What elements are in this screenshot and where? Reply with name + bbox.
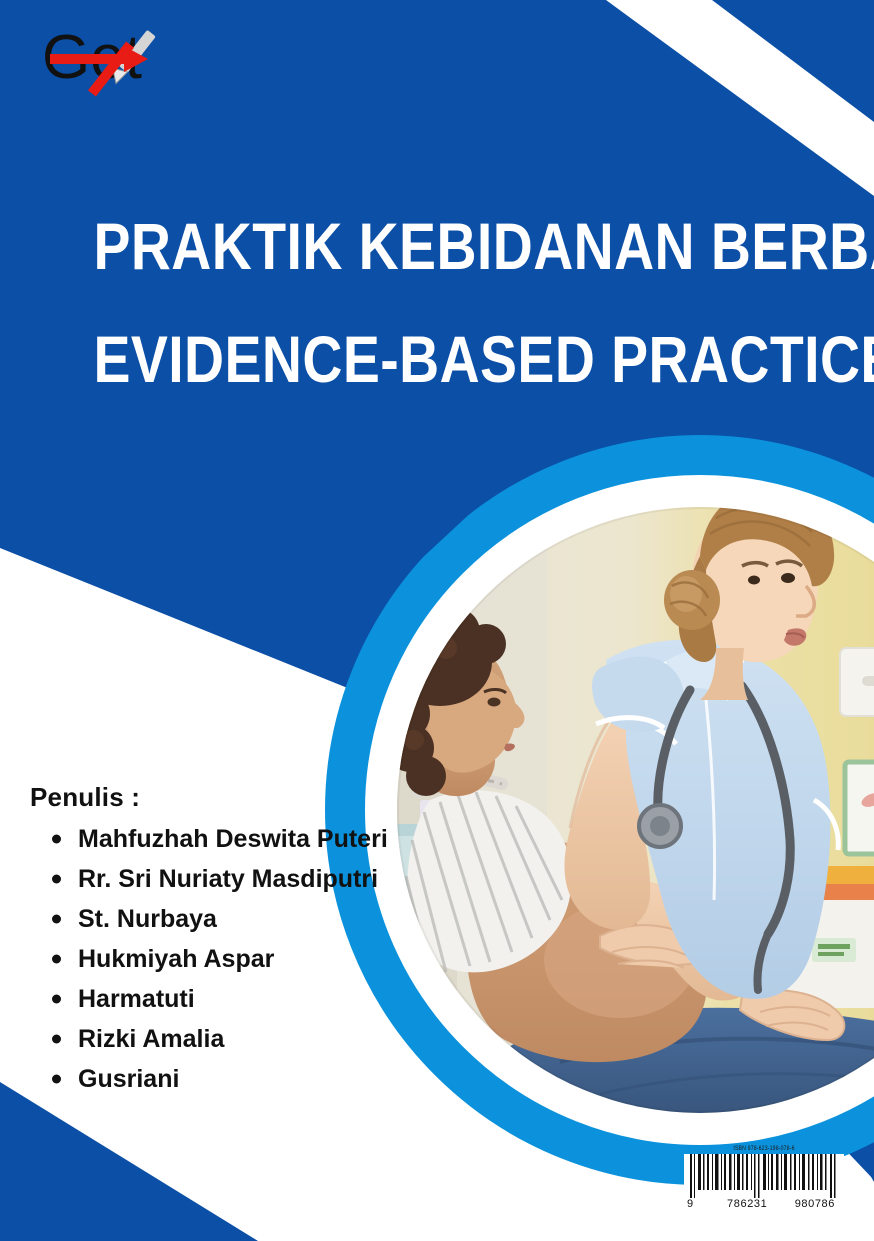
bullet-icon: [52, 915, 61, 924]
authors-block: Penulis : Mahfuzhah Deswita Puteri Rr. S…: [30, 782, 388, 1099]
authors-list: Mahfuzhah Deswita Puteri Rr. Sri Nuriaty…: [30, 819, 388, 1099]
bullet-icon: [52, 1075, 61, 1084]
barcode-digit-group-2: 980786: [795, 1198, 835, 1210]
isbn-text: ISBN 978-623-198-078-6: [684, 1146, 844, 1153]
author-name: Rizki Amalia: [78, 1025, 224, 1053]
barcode-digit-group-1: 786231: [727, 1198, 767, 1210]
title-line-2: EVIDENCE-BASED PRACTICE: [93, 325, 780, 394]
publisher-logo-mark: Get: [40, 22, 205, 102]
author-name: Rr. Sri Nuriaty Masdiputri: [78, 865, 378, 893]
isbn-barcode-block: ISBN 978-623-198-078-6: [684, 1146, 844, 1210]
bullet-icon: [52, 1035, 61, 1044]
authors-label: Penulis :: [30, 782, 388, 813]
barcode-digits: 9 786231 980786: [687, 1198, 841, 1210]
bullet-icon: [52, 875, 61, 884]
barcode-bars: [684, 1154, 844, 1198]
bullet-icon: [52, 835, 61, 844]
book-cover: Get PRAKTIK KEBIDANAN BERBASIS EVIDENCE-…: [0, 0, 874, 1241]
list-item: Rr. Sri Nuriaty Masdiputri: [48, 859, 388, 899]
bullet-icon: [52, 995, 61, 1004]
list-item: Hukmiyah Aspar: [48, 939, 388, 979]
cover-title-block: PRAKTIK KEBIDANAN BERBASIS EVIDENCE-BASE…: [0, 212, 874, 393]
author-name: Mahfuzhah Deswita Puteri: [78, 825, 388, 853]
list-item: St. Nurbaya: [48, 899, 388, 939]
bullet-icon: [52, 955, 61, 964]
author-name: Gusriani: [78, 1065, 179, 1093]
author-name: Harmatuti: [78, 985, 195, 1013]
list-item: Rizki Amalia: [48, 1019, 388, 1059]
author-name: St. Nurbaya: [78, 905, 217, 933]
list-item: Mahfuzhah Deswita Puteri: [48, 819, 388, 859]
list-item: Harmatuti: [48, 979, 388, 1019]
list-item: Gusriani: [48, 1059, 388, 1099]
publisher-logo[interactable]: Get: [40, 22, 205, 102]
author-name: Hukmiyah Aspar: [78, 945, 274, 973]
title-line-1: PRAKTIK KEBIDANAN BERBASIS: [93, 212, 780, 281]
barcode-digit-left: 9: [687, 1198, 694, 1210]
